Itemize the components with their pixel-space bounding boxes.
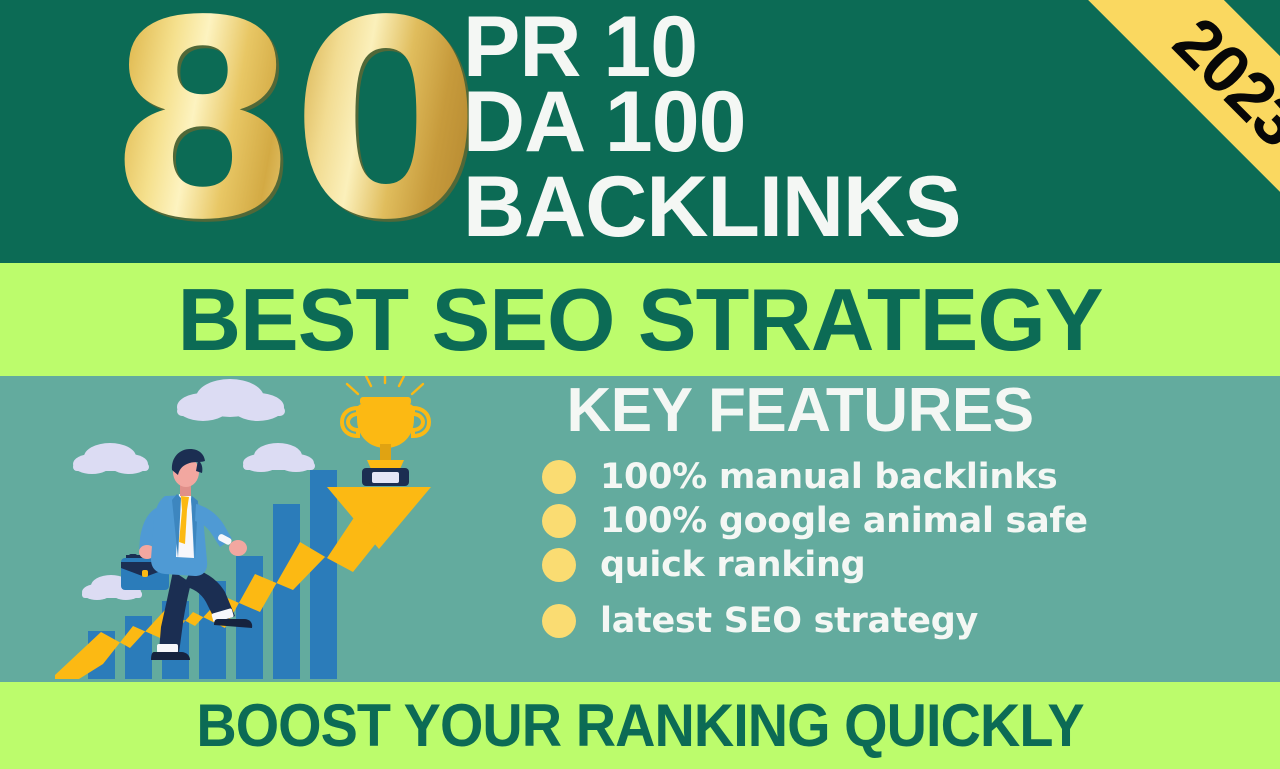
bullet-icon <box>542 548 576 582</box>
feature-item-1: 100% manual backlinks <box>542 457 1100 497</box>
feature-label: 100% google animal safe <box>600 501 1088 541</box>
cloud-icon <box>73 443 149 474</box>
feature-item-2: 100% google animal safe <box>542 501 1100 541</box>
bullet-icon <box>542 604 576 638</box>
title-band-text: BEST SEO STRATEGY <box>0 263 1280 376</box>
bullet-icon <box>542 504 576 538</box>
ribbon-year-label: 2023 <box>1158 2 1280 161</box>
trophy-icon <box>342 397 429 486</box>
footer-band-text: BOOST YOUR RANKING QUICKLY <box>45 682 1235 769</box>
header-line-da100: DA 100 <box>463 83 960 162</box>
header-line-backlinks: BACKLINKS <box>463 168 960 247</box>
ribbon-strip: 2023 <box>1056 0 1280 264</box>
bullet-icon <box>542 460 576 494</box>
trophy-shine-icon <box>347 376 423 394</box>
cloud-icon <box>177 379 285 421</box>
growth-illustration <box>55 376 485 682</box>
feature-item-4: latest SEO strategy <box>542 601 1100 641</box>
feature-label: latest SEO strategy <box>600 601 978 641</box>
key-features-block: KEY FEATURES 100% manual backlinks 100% … <box>500 378 1100 641</box>
feature-label: 100% manual backlinks <box>600 457 1057 497</box>
year-ribbon: 2023 <box>1010 0 1280 270</box>
cloud-icon <box>243 443 315 472</box>
key-features-heading: KEY FEATURES <box>500 378 1100 443</box>
seo-promo-poster: 80 80 PR 10 DA 100 BACKLINKS 2023 BEST S… <box>0 0 1280 769</box>
big-number-80: 80 <box>108 0 475 258</box>
feature-label: quick ranking <box>600 545 865 585</box>
header-text-block: PR 10 DA 100 BACKLINKS <box>463 8 960 247</box>
feature-item-3: quick ranking <box>542 545 1100 585</box>
